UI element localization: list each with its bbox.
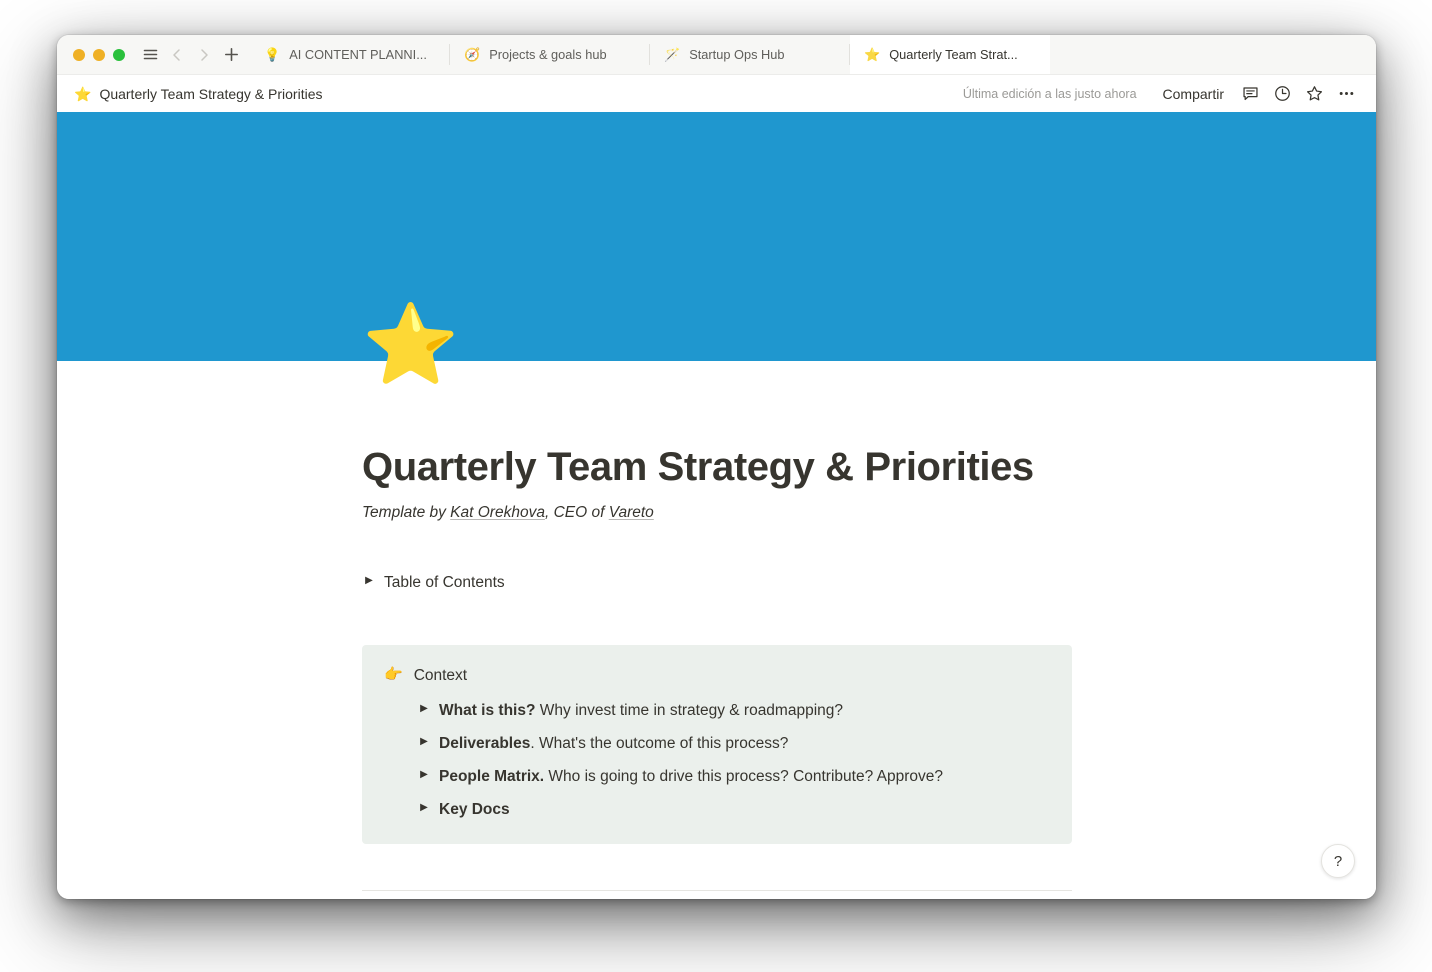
tab-label: AI CONTENT PLANNI...	[289, 47, 427, 62]
toggle-bold-label: Deliverables	[439, 735, 530, 752]
toggle-text: Key Docs	[439, 798, 510, 821]
lightbulb-icon: 💡	[264, 48, 280, 61]
chevron-right-icon[interactable]: ▶	[417, 704, 431, 714]
toggle-text: Deliverables. What's the outcome of this…	[439, 732, 788, 755]
callout-toggle-list: ▶ What is this? Why invest time in strat…	[384, 699, 1050, 822]
tab-projects-goals-hub[interactable]: 🧭 Projects & goals hub	[450, 35, 650, 74]
table-of-contents-toggle[interactable]: ▶ Table of Contents	[362, 571, 1316, 594]
page-content: ⭐ Quarterly Team Strategy & Priorities T…	[57, 361, 1376, 899]
toggle-people-matrix[interactable]: ▶ People Matrix. Who is going to drive t…	[417, 765, 1050, 788]
window-close-button[interactable]	[73, 49, 85, 61]
table-of-contents-label: Table of Contents	[384, 571, 505, 594]
tab-bar-empty-space	[1050, 35, 1376, 74]
toggle-deliverables[interactable]: ▶ Deliverables. What's the outcome of th…	[417, 732, 1050, 755]
star-icon: ⭐	[864, 48, 880, 61]
chevron-right-icon[interactable]: ▶	[362, 576, 376, 586]
breadcrumb[interactable]: ⭐ Quarterly Team Strategy & Priorities	[74, 86, 322, 102]
menu-icon[interactable]	[137, 42, 163, 68]
chevron-right-icon[interactable]: ▶	[417, 770, 431, 780]
window-traffic-lights	[57, 35, 137, 74]
navigation-controls	[137, 35, 250, 74]
forward-icon[interactable]	[191, 42, 217, 68]
callout-header: 👉 Context	[384, 664, 1050, 687]
toggle-bold-label: People Matrix.	[439, 768, 544, 785]
favorite-star-icon[interactable]	[1300, 80, 1328, 108]
page-cover-image[interactable]	[57, 112, 1376, 361]
callout-title: Context	[414, 664, 467, 687]
tab-quarterly-team-strategy[interactable]: ⭐ Quarterly Team Strat...	[850, 35, 1050, 74]
header-actions: Última edición a las justo ahora Compart…	[963, 80, 1360, 108]
page-icon-emoji[interactable]: ⭐	[362, 305, 459, 383]
toggle-bold-label: What is this?	[439, 702, 535, 719]
tab-label: Startup Ops Hub	[689, 47, 784, 62]
help-button[interactable]: ?	[1321, 844, 1355, 878]
document-header-bar: ⭐ Quarterly Team Strategy & Priorities Ú…	[57, 75, 1376, 112]
byline-prefix: Template by	[362, 504, 450, 521]
window-minimize-button[interactable]	[93, 49, 105, 61]
toggle-rest-label: Why invest time in strategy & roadmappin…	[535, 702, 843, 719]
tab-label: Projects & goals hub	[489, 47, 606, 62]
toggle-bold-label: Key Docs	[439, 801, 510, 818]
company-link[interactable]: Vareto	[609, 504, 654, 521]
comment-icon[interactable]	[1236, 80, 1264, 108]
window-maximize-button[interactable]	[113, 49, 125, 61]
tab-strip: 💡 AI CONTENT PLANNI... 🧭 Projects & goal…	[250, 35, 1376, 74]
byline-middle: , CEO of	[545, 504, 609, 521]
browser-tab-bar: 💡 AI CONTENT PLANNI... 🧭 Projects & goal…	[57, 35, 1376, 75]
magic-wand-icon: 🪄	[664, 48, 680, 61]
last-edited-status: Última edición a las justo ahora	[963, 87, 1151, 101]
breadcrumb-title: Quarterly Team Strategy & Priorities	[99, 86, 322, 102]
plus-icon[interactable]	[218, 42, 244, 68]
toggle-key-docs[interactable]: ▶ Key Docs	[417, 798, 1050, 821]
more-options-icon[interactable]	[1332, 80, 1360, 108]
page-byline: Template by Kat Orekhova, CEO of Vareto	[362, 504, 1316, 522]
toggle-text: What is this? Why invest time in strateg…	[439, 699, 843, 722]
context-callout-block[interactable]: 👉 Context ▶ What is this? Why invest tim…	[362, 645, 1072, 843]
chevron-right-icon[interactable]: ▶	[417, 737, 431, 747]
toggle-rest-label: . What's the outcome of this process?	[530, 735, 788, 752]
tab-startup-ops-hub[interactable]: 🪄 Startup Ops Hub	[650, 35, 850, 74]
compass-icon: 🧭	[464, 48, 480, 61]
share-button[interactable]: Compartir	[1155, 82, 1232, 106]
tab-ai-content-planning[interactable]: 💡 AI CONTENT PLANNI...	[250, 35, 450, 74]
page-scroll-region[interactable]: ⭐ Quarterly Team Strategy & Priorities T…	[57, 112, 1376, 899]
application-window: 💡 AI CONTENT PLANNI... 🧭 Projects & goal…	[57, 35, 1376, 899]
toggle-what-is-this[interactable]: ▶ What is this? Why invest time in strat…	[417, 699, 1050, 722]
back-icon[interactable]	[164, 42, 190, 68]
star-icon: ⭐	[74, 87, 91, 101]
author-link[interactable]: Kat Orekhova	[450, 504, 545, 521]
page-title[interactable]: Quarterly Team Strategy & Priorities	[362, 361, 1316, 490]
chevron-right-icon[interactable]: ▶	[417, 803, 431, 813]
section-divider	[362, 890, 1072, 891]
toggle-text: People Matrix. Who is going to drive thi…	[439, 765, 943, 788]
desktop-backdrop: 💡 AI CONTENT PLANNI... 🧭 Projects & goal…	[0, 0, 1432, 972]
pointing-finger-icon: 👉	[384, 664, 403, 687]
history-icon[interactable]	[1268, 80, 1296, 108]
toggle-rest-label: Who is going to drive this process? Cont…	[544, 768, 943, 785]
tab-label: Quarterly Team Strat...	[889, 47, 1018, 62]
